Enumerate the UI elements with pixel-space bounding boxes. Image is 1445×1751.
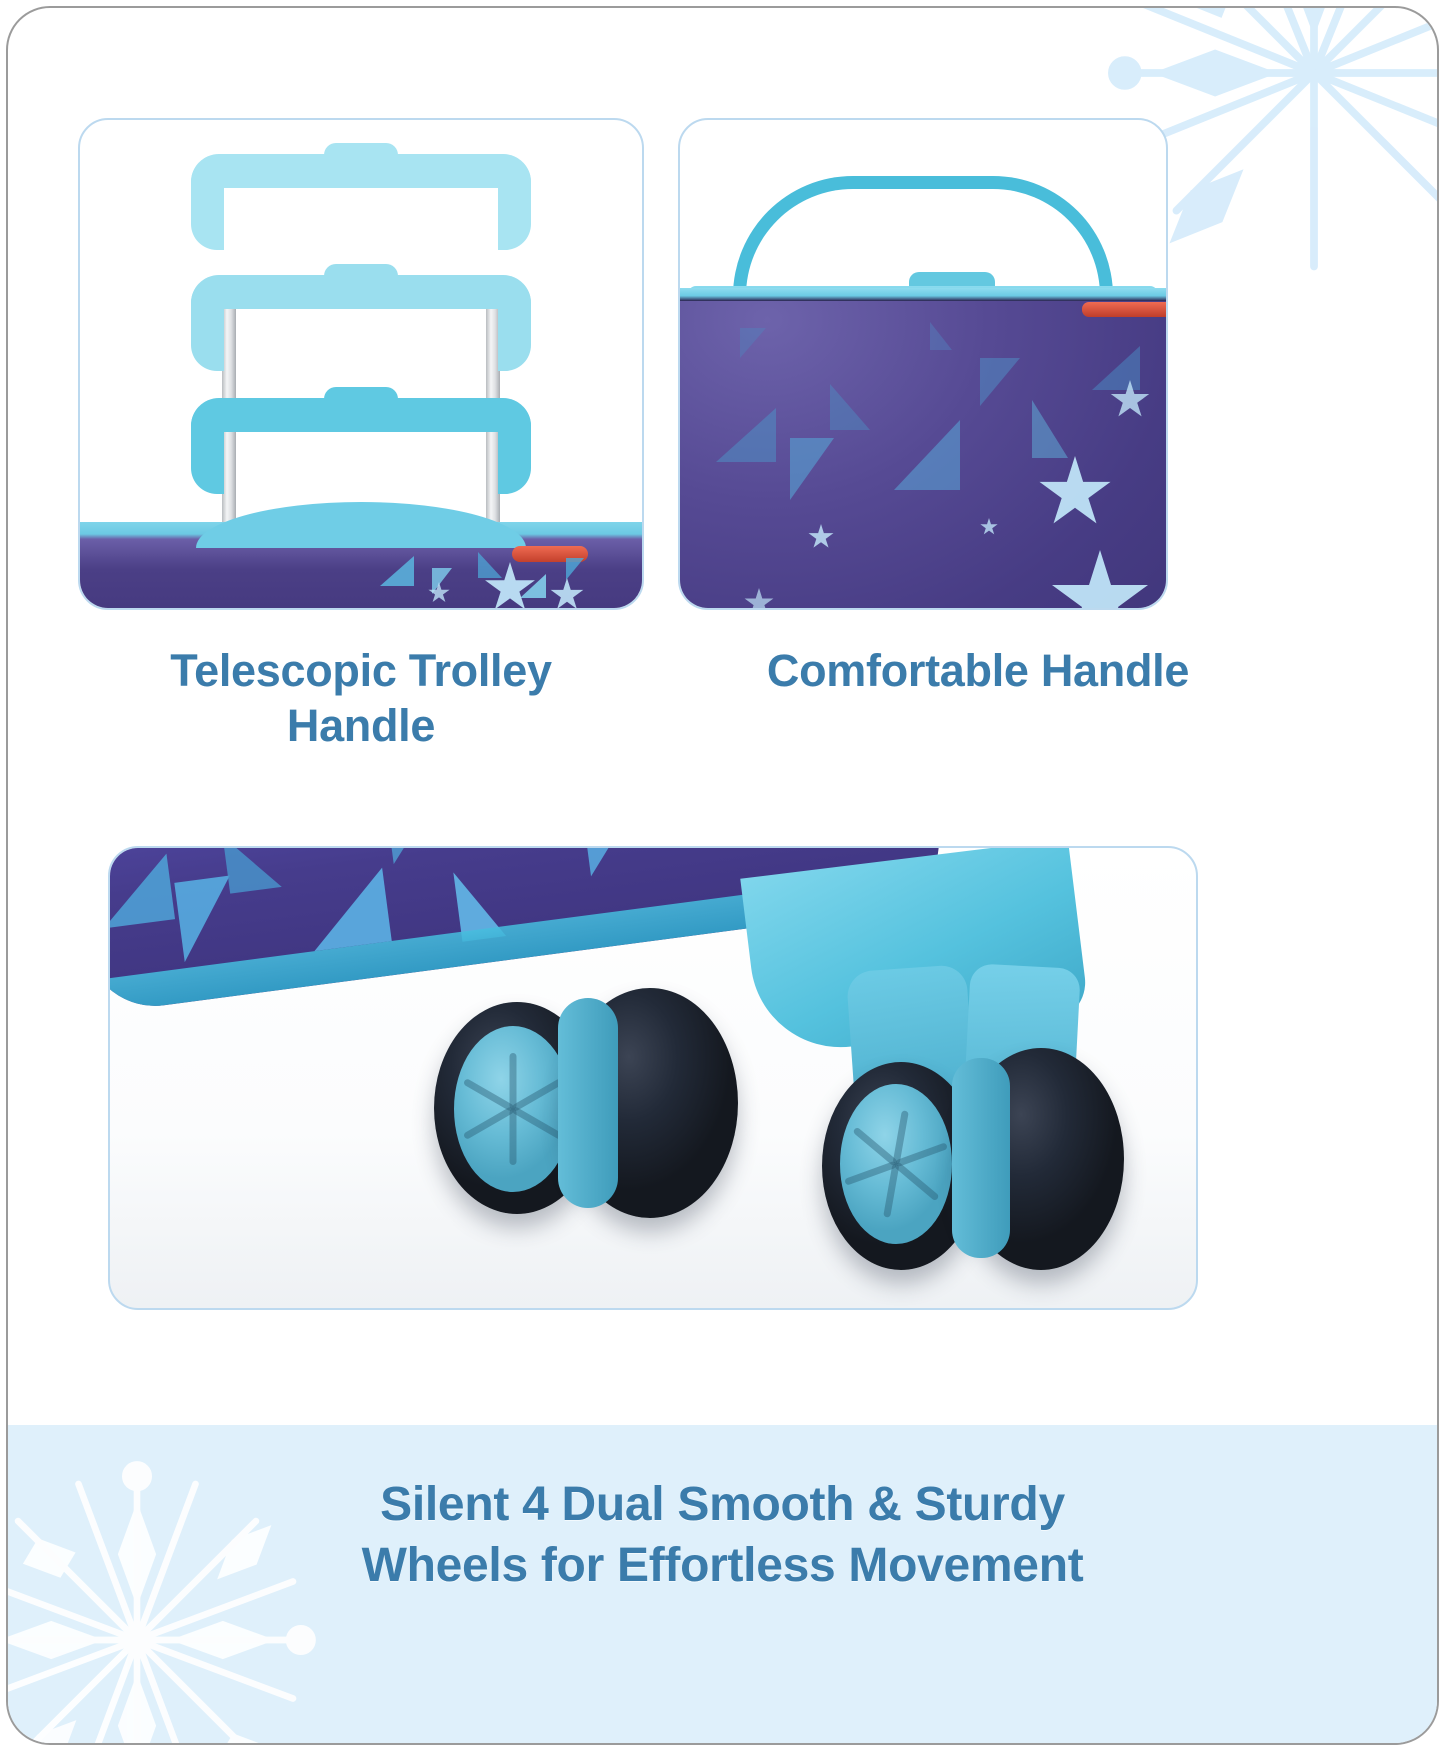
caption-comfortable-handle: Comfortable Handle: [678, 644, 1278, 699]
wheel-axle-cover: [952, 1058, 1010, 1258]
caption-line-1: Comfortable Handle: [678, 644, 1278, 699]
trolley-handle-position-1: [191, 154, 531, 250]
feature-image-silent-wheels: [108, 846, 1198, 1310]
caption-line-2: Handle: [78, 699, 644, 754]
caption-line-1: Silent 4 Dual Smooth & Sturdy: [8, 1474, 1437, 1535]
suitcase-top-edge: [80, 522, 642, 608]
feature-image-comfortable-handle: [678, 118, 1168, 610]
caption-line-2: Wheels for Effortless Movement: [8, 1535, 1437, 1596]
wheel-hub: [840, 1084, 952, 1244]
product-infographic-card: Telescopic Trolley Handle Comfortable Ha…: [6, 6, 1439, 1745]
caption-line-1: Telescopic Trolley: [78, 644, 644, 699]
suitcase-rim: [680, 288, 1166, 301]
suitcase-lid-arch: [196, 502, 526, 548]
wheel-hub: [454, 1026, 572, 1192]
wheel-axle-cover: [558, 998, 618, 1208]
trolley-handle-position-3: [191, 398, 531, 494]
feature-panels-row: [8, 8, 1437, 610]
suitcase-body: [680, 288, 1166, 608]
caption-telescopic-trolley-handle: Telescopic Trolley Handle: [78, 644, 644, 754]
caption-silent-wheels: Silent 4 Dual Smooth & Sturdy Wheels for…: [8, 1474, 1437, 1597]
trolley-handle-position-2: [191, 275, 531, 371]
feature-image-telescopic-trolley-handle: [78, 118, 644, 610]
zipper-pull-tab: [1082, 302, 1166, 317]
